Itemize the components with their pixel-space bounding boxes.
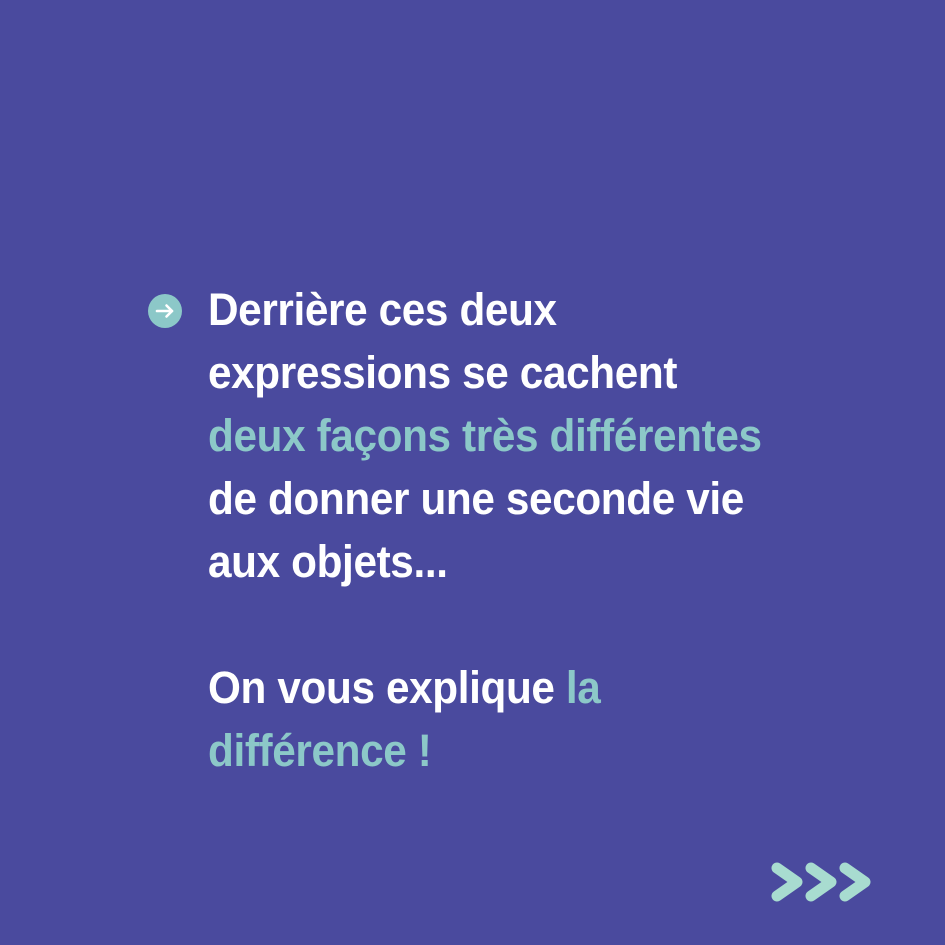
paragraph-intro-part-1: Derrière ces deux expressions se cachent [208, 284, 677, 398]
slide-body-text: Derrière ces deux expressions se cachent… [208, 278, 808, 782]
arrow-right-circle-icon [148, 294, 182, 328]
chevron-right-triple-icon[interactable] [768, 856, 878, 908]
paragraph-cta: On vous explique la différence ! [208, 656, 772, 782]
paragraph-intro-highlight: deux façons très différentes [208, 410, 762, 461]
paragraph-intro-part-2: de donner une seconde vie aux objets... [208, 473, 744, 587]
paragraph-intro: Derrière ces deux expressions se cachent… [208, 278, 772, 593]
paragraph-spacer [208, 593, 808, 656]
paragraph-cta-part-1: On vous explique [208, 662, 566, 713]
slide-canvas: Derrière ces deux expressions se cachent… [0, 0, 945, 945]
